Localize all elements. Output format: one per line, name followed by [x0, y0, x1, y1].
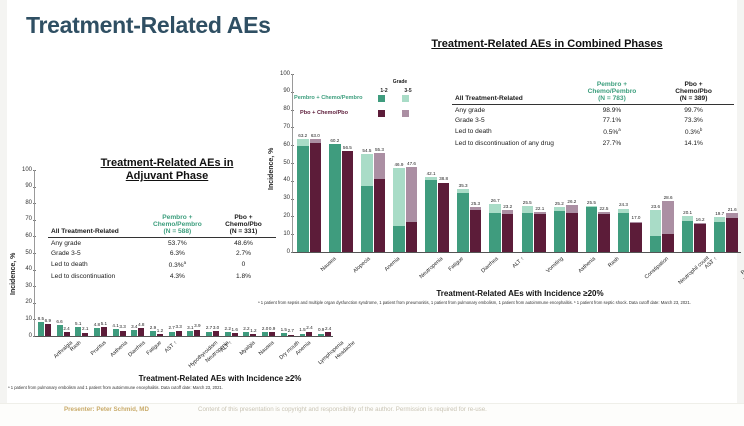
bar-pbo: 2.1: [82, 333, 88, 337]
table-cell-label: Grade 3-5: [48, 249, 144, 259]
bar-pembro: 4.1: [113, 329, 119, 336]
bar-value-label: 2.4: [306, 326, 312, 331]
bar-value-label: 25.3: [471, 202, 480, 207]
x-axis-category-label: Diarrhea: [128, 340, 147, 358]
bar-pembro: 6.6: [57, 325, 63, 336]
x-axis-category-label: ALT ↑: [511, 256, 525, 270]
table-cell-pbo: 2.7%: [211, 249, 276, 259]
bar-pbo: 3.0: [213, 331, 219, 336]
bar-value-label: 2.4: [325, 327, 331, 332]
bar-value-label: 38.8: [439, 177, 448, 182]
bar-value-label: 1.2: [157, 329, 163, 334]
bar-segment-grade12: [213, 331, 219, 336]
table-cell-label: Any grade: [452, 105, 571, 116]
bar-value-label: 60.2: [330, 139, 339, 144]
bar-pembro: 1.5: [300, 334, 306, 337]
bar-segment-grade35: [406, 167, 418, 222]
bar-segment-grade12: [318, 334, 324, 337]
bar-value-label: 1.5: [299, 328, 305, 333]
table-cell-pbo: 1.8%: [211, 271, 276, 281]
bar-pembro: 25.2: [554, 207, 566, 252]
bar-value-label: 2.4: [63, 327, 69, 332]
bar-pbo: 25.3: [470, 207, 482, 252]
combined-summary-table: All Treatment-Related Pembro + Chemo/Pem…: [452, 79, 734, 148]
bar-pbo: 23.2: [502, 210, 514, 252]
bar-segment-grade12: [101, 327, 107, 336]
bar-segment-grade12: [470, 210, 482, 252]
table-cell-pembro: 77.1%: [571, 116, 653, 126]
bar-pembro: 2.2: [225, 332, 231, 336]
left-edge-shade: [0, 0, 7, 426]
table-row: Grade 3-56.3%2.7%: [48, 249, 276, 259]
bar-value-label: 47.6: [407, 162, 416, 167]
legend-swatch-pembro-grade12: [378, 95, 385, 102]
bar-value-label: 63.0: [311, 134, 320, 139]
bar-segment-grade12: [113, 329, 119, 336]
bar-segment-grade35: [297, 139, 309, 146]
bar-segment-grade12: [57, 325, 63, 336]
bar-pembro: 2.7: [206, 332, 212, 337]
bar-group: 0.92.4: [315, 169, 334, 336]
adjuvant-table-head-pembro: Pembro + Chemo/Pembro (N = 588): [144, 212, 211, 238]
bar-value-label: 2.9: [150, 326, 156, 331]
bar-segment-grade12: [618, 213, 630, 252]
bar-pembro: 54.5: [361, 154, 373, 252]
x-axis-category-label: Asthenia: [109, 340, 129, 359]
y-axis-tick: 60: [274, 142, 290, 148]
bar-pembro: 25.5: [522, 206, 534, 252]
table-cell-pembro: 0.5%a: [571, 126, 653, 138]
bar-pbo: 38.8: [438, 183, 450, 252]
footer-presenter: Presenter: Peter Schmid, MD: [64, 406, 149, 413]
bar-segment-grade12: [281, 333, 287, 336]
bar-segment-grade12: [75, 327, 81, 336]
bar-pembro: 2.0: [262, 332, 268, 336]
bar-segment-grade35: [566, 205, 578, 213]
legend-swatch-pbo-grade35: [402, 110, 409, 117]
bar-value-label: 20.1: [683, 211, 692, 216]
combined-table-head-pbo: Pbo + Chemo/Pbo (N = 389): [653, 79, 734, 105]
bar-pbo: 3.3: [176, 331, 182, 337]
combined-xaxis-title: Treatment-Related AEs with Incidence ≥20…: [330, 289, 710, 298]
bar-pembro: 23.6: [650, 210, 662, 252]
bar-value-label: 26.7: [491, 199, 500, 204]
bar-pembro: 42.1: [425, 177, 437, 252]
bar-segment-grade35: [361, 154, 373, 185]
bar-pbo: 0.9: [269, 332, 275, 336]
table-cell-pembro: 27.7%: [571, 138, 653, 148]
y-axis-tick: 80: [274, 106, 290, 112]
table-row: Led to discontinuation4.3%1.8%: [48, 271, 276, 281]
legend-swatch-pembro-grade35: [402, 95, 409, 102]
bar-segment-grade12: [269, 332, 275, 336]
bar-pembro: 2.9: [150, 331, 156, 336]
bar-value-label: 5.1: [101, 322, 107, 327]
bar-pbo: 28.6: [662, 201, 674, 252]
bar-value-label: 3.3: [119, 325, 125, 330]
bar-segment-grade12: [438, 183, 450, 252]
bar-group: 1.52.4: [297, 169, 316, 336]
bar-value-label: 35.3: [459, 184, 468, 189]
bar-segment-grade12: [406, 222, 418, 252]
bar-pembro: 8.5: [38, 322, 44, 336]
bar-value-label: 17.0: [632, 216, 641, 221]
bar-pembro: 25.5: [586, 206, 598, 252]
bar-segment-grade12: [586, 207, 598, 252]
bar-value-label: 3.9: [194, 324, 200, 329]
bar-pembro: 35.3: [457, 189, 469, 252]
table-cell-label: Any grade: [48, 238, 144, 249]
bar-segment-grade12: [82, 333, 88, 337]
bar-value-label: 5.1: [75, 322, 81, 327]
bar-segment-grade12: [288, 335, 294, 337]
x-axis-category-label: Pruritus: [90, 340, 108, 357]
bar-value-label: 25.5: [587, 201, 596, 206]
bar-value-label: 3.4: [131, 325, 137, 330]
table-cell-pbo: 99.7%: [653, 105, 734, 116]
page-title: Treatment-Related AEs: [26, 12, 271, 39]
combined-chart-title: Treatment-Related AEs in Combined Phases: [352, 38, 742, 51]
bar-segment-grade35: [374, 153, 386, 179]
table-cell-label: Led to death: [48, 259, 144, 271]
bar-value-label: 3.3: [175, 325, 181, 330]
bar-pbo: 2.4: [325, 332, 331, 336]
bar-segment-grade12: [374, 179, 386, 252]
bar-pembro: 4.8: [94, 328, 100, 336]
bar-value-label: 54.5: [362, 149, 371, 154]
bar-segment-grade12: [232, 333, 238, 336]
bar-segment-grade12: [250, 334, 256, 336]
bar-segment-grade35: [662, 201, 674, 234]
bar-segment-grade12: [694, 224, 706, 252]
adjuvant-xaxis-title: Treatment-Related AEs with Incidence ≥2%: [60, 374, 380, 383]
bar-segment-grade35: [489, 204, 501, 212]
legend-label-pbo: Pbo + Chemo/Pbo: [300, 110, 348, 116]
bar-pbo: 56.5: [342, 151, 354, 252]
bar-segment-grade12: [554, 211, 566, 252]
bar-value-label: 25.5: [523, 201, 532, 206]
bar-segment-grade12: [38, 322, 44, 336]
bar-value-label: 4.1: [112, 324, 118, 329]
bar-value-label: 55.3: [375, 148, 384, 153]
legend-grade-header: Grade: [380, 79, 420, 85]
bar-segment-grade12: [300, 334, 306, 337]
bar-segment-grade12: [425, 180, 437, 252]
bar-value-label: 0.9: [318, 328, 324, 333]
y-axis-tick: 50: [274, 160, 290, 166]
bar-value-label: 0.9: [269, 327, 275, 332]
y-axis-tick: 90: [16, 183, 32, 189]
bar-value-label: 1.2: [250, 329, 256, 334]
bar-value-label: 23.2: [503, 205, 512, 210]
adjuvant-table-head-label: All Treatment-Related: [48, 212, 144, 238]
bar-pembro: 1.5: [281, 333, 287, 336]
y-axis-tick: 40: [16, 266, 32, 272]
table-cell-pembro: 53.7%: [144, 238, 211, 249]
x-axis-category-label: Nausea: [258, 340, 276, 357]
bar-segment-grade12: [206, 332, 212, 337]
x-axis-category-label: Neutropenia: [419, 256, 445, 280]
bar-value-label: 2.7: [168, 326, 174, 331]
bar-value-label: 22.5: [599, 207, 608, 212]
bar-value-label: 2.2: [225, 327, 231, 332]
bar-value-label: 8.5: [38, 317, 44, 322]
bar-segment-grade12: [157, 334, 163, 336]
bar-pbo: 21.6: [726, 213, 738, 252]
bar-segment-grade12: [393, 226, 405, 252]
bar-segment-grade12: [598, 214, 610, 252]
bar-value-label: 1.6: [232, 328, 238, 333]
bar-value-label: 16.2: [696, 218, 705, 223]
adjuvant-table-head-pbo: Pbo + Chemo/Pbo (N = 331): [211, 212, 276, 238]
bar-segment-grade12: [187, 331, 193, 336]
bar-segment-grade12: [522, 213, 534, 252]
bar-value-label: 2.0: [262, 327, 268, 332]
bar-group: 1.52.7: [278, 169, 297, 336]
bar-pembro: 3.1: [187, 331, 193, 336]
bar-value-label: 23.6: [651, 205, 660, 210]
legend-swatch-pbo-grade12: [378, 110, 385, 117]
bar-value-label: 28.6: [664, 196, 673, 201]
bar-group: 42.138.8: [421, 73, 453, 252]
bar-pbo: 1.2: [250, 334, 256, 336]
legend-grade-col-1: 1-2: [376, 88, 392, 94]
bar-value-label: 1.5: [281, 328, 287, 333]
bar-pembro: 5.1: [75, 327, 81, 336]
bar-segment-grade12: [342, 151, 354, 252]
y-axis-tick: 10: [16, 316, 32, 322]
bar-value-label: 6.6: [56, 320, 62, 325]
bar-segment-grade12: [714, 222, 726, 252]
bar-segment-grade35: [393, 168, 405, 226]
table-cell-pbo: 73.3%: [653, 116, 734, 126]
bar-pbo: 4.8: [138, 328, 144, 336]
table-cell-label: Grade 3-5: [452, 116, 571, 126]
bar-segment-grade12: [682, 221, 694, 252]
bar-value-label: 3.1: [187, 326, 193, 331]
bar-pembro: 20.1: [682, 216, 694, 252]
legend-series-pembro: Pembro + Chemo/Pembro: [294, 95, 363, 101]
bar-pbo: 3.3: [120, 331, 126, 337]
bar-segment-grade12: [502, 214, 514, 252]
bar-segment-grade12: [131, 330, 137, 336]
table-cell-pbo: 14.1%: [653, 138, 734, 148]
bar-pbo: 22.1: [534, 212, 546, 252]
y-axis-tick: 60: [16, 233, 32, 239]
bar-segment-grade12: [662, 234, 674, 252]
table-cell-pbo: 0.3%b: [653, 126, 734, 138]
footer-copyright: Content of this presentation is copyrigh…: [198, 406, 487, 413]
slide-canvas: Treatment-Related AEs Treatment-Related …: [0, 0, 744, 426]
table-cell-label: Led to discontinuation: [48, 271, 144, 281]
table-row: Any grade53.7%48.6%: [48, 238, 276, 249]
table-cell-pembro: 6.3%: [144, 249, 211, 259]
bar-pbo: 1.6: [232, 333, 238, 336]
legend-grade-col-2: 3-5: [400, 88, 416, 94]
bar-segment-grade12: [45, 324, 51, 336]
bar-segment-grade12: [262, 332, 268, 336]
x-axis-category-label: AST ↑: [163, 340, 178, 354]
bar-segment-grade12: [138, 328, 144, 336]
bar-segment-grade12: [726, 218, 738, 252]
bar-pbo: 17.0: [630, 222, 642, 252]
combined-table-head-label: All Treatment-Related: [452, 79, 571, 105]
bar-segment-grade12: [120, 331, 126, 337]
bar-segment-grade12: [325, 332, 331, 336]
x-axis-category-label: Diarrhea: [481, 256, 500, 274]
bar-segment-grade12: [630, 223, 642, 252]
table-row: Led to discontinuation of any drug27.7%1…: [452, 138, 734, 148]
bar-segment-grade12: [64, 332, 70, 336]
x-axis-category-label: Alopecia: [352, 256, 371, 274]
table-row: Any grade98.9%99.7%: [452, 105, 734, 116]
x-axis-category-label: Rash: [607, 256, 620, 269]
legend-series-pbo: Pbo + Chemo/Pbo: [300, 110, 348, 116]
bar-value-label: 2.7: [288, 329, 294, 334]
bar-pembro: 2.7: [169, 332, 175, 337]
bar-value-label: 2.1: [82, 327, 88, 332]
bar-value-label: 24.3: [619, 203, 628, 208]
table-cell-pembro: 98.9%: [571, 105, 653, 116]
y-axis-tick: 20: [16, 299, 32, 305]
bar-pembro: 24.3: [618, 209, 630, 252]
table-row: Led to death0.3%a0: [48, 259, 276, 271]
bar-value-label: 21.6: [728, 208, 737, 213]
legend-label-pembro: Pembro + Chemo/Pembro: [294, 95, 363, 101]
bar-pembro: 26.7: [489, 204, 501, 252]
bar-value-label: 3.0: [213, 326, 219, 331]
bar-pembro: 0.9: [318, 334, 324, 337]
bar-segment-grade12: [225, 332, 231, 336]
x-axis-category-label: Myalgia: [239, 340, 257, 357]
bar-pbo: 2.4: [306, 332, 312, 337]
y-axis-tick: 90: [274, 88, 290, 94]
bar-value-label: 46.9: [394, 163, 403, 168]
bar-value-label: 22.1: [535, 207, 544, 212]
table-cell-label: Led to discontinuation of any drug: [452, 138, 571, 148]
bar-pembro: 46.9: [393, 168, 405, 252]
bar-value-label: 19.7: [715, 212, 724, 217]
combined-table-head-pembro: Pembro + Chemo/Pembro (N = 783): [571, 79, 653, 105]
bar-value-label: 42.1: [427, 172, 436, 177]
bar-pbo: 26.2: [566, 205, 578, 252]
bar-segment-grade12: [457, 193, 469, 252]
bar-value-label: 4.8: [138, 323, 144, 328]
table-cell-pembro: 0.3%a: [144, 259, 211, 271]
y-axis-tick: 100: [16, 167, 32, 173]
bar-segment-grade12: [94, 328, 100, 336]
x-axis-category-label: Vomiting: [545, 256, 564, 274]
bar-value-label: 2.2: [243, 327, 249, 332]
bar-segment-grade12: [489, 213, 501, 252]
bar-pbo: 5.1: [101, 327, 107, 336]
table-row: Grade 3-577.1%73.3%: [452, 116, 734, 126]
bar-segment-grade12: [361, 186, 373, 252]
table-row: Led to death0.5%a0.3%b: [452, 126, 734, 138]
bar-pbo: 2.7: [288, 335, 294, 337]
table-cell-pbo: 0: [211, 259, 276, 271]
y-axis-tick: 30: [16, 283, 32, 289]
x-axis-category-label: Constipation: [643, 256, 669, 281]
y-axis-tick: 50: [16, 250, 32, 256]
bar-segment-grade12: [306, 332, 312, 337]
bar-value-label: 25.2: [555, 202, 564, 207]
x-axis-category-label: Asthenia: [577, 256, 597, 275]
x-axis-category-label: Fatigue: [448, 256, 465, 272]
bar-pbo: 3.9: [194, 330, 200, 337]
bar-segment-grade12: [176, 331, 182, 337]
bar-segment-grade12: [566, 213, 578, 252]
bar-pembro: 3.4: [131, 330, 137, 336]
x-axis-category-label: Anemia: [384, 256, 402, 273]
bar-value-label: 6.9: [45, 319, 51, 324]
bar-value-label: 26.2: [567, 200, 576, 205]
bar-segment-grade12: [169, 332, 175, 337]
table-cell-label: Led to death: [452, 126, 571, 138]
bar-pbo: 55.3: [374, 153, 386, 252]
x-axis-category-label: ALT ↑: [219, 340, 233, 354]
x-axis-category-label: Fatigue: [146, 340, 163, 356]
bar-pbo: 16.2: [694, 223, 706, 252]
bar-pembro: 19.7: [714, 217, 726, 252]
bar-pbo: 1.2: [157, 334, 163, 336]
bar-pbo: 22.5: [598, 212, 610, 252]
bar-value-label: 4.8: [94, 323, 100, 328]
bar-segment-grade35: [650, 210, 662, 236]
bar-pbo: 47.6: [406, 167, 418, 252]
adjuvant-footnote: ᵃ 1 patient from pulmonary embolism and …: [8, 385, 428, 391]
y-axis-tick: 70: [16, 216, 32, 222]
bar-value-label: 63.2: [298, 134, 307, 139]
table-cell-pembro: 4.3%: [144, 271, 211, 281]
bar-segment-grade12: [150, 331, 156, 336]
bar-segment-grade12: [194, 330, 200, 337]
y-axis-tick: 80: [16, 200, 32, 206]
y-axis-tick: 0: [16, 333, 32, 339]
bar-value-label: 56.5: [343, 146, 352, 151]
bar-segment-grade12: [534, 214, 546, 252]
bar-value-label: 2.7: [206, 326, 212, 331]
y-axis-tick: 70: [274, 124, 290, 130]
bar-segment-grade12: [243, 332, 249, 336]
table-cell-pbo: 48.6%: [211, 238, 276, 249]
bar-pembro: 2.2: [243, 332, 249, 336]
y-axis-tick: 100: [274, 71, 290, 77]
bar-pbo: 2.4: [64, 332, 70, 336]
adjuvant-summary-table: All Treatment-Related Pembro + Chemo/Pem…: [48, 212, 276, 281]
bar-segment-grade12: [650, 236, 662, 252]
bar-pbo: 6.9: [45, 324, 51, 336]
